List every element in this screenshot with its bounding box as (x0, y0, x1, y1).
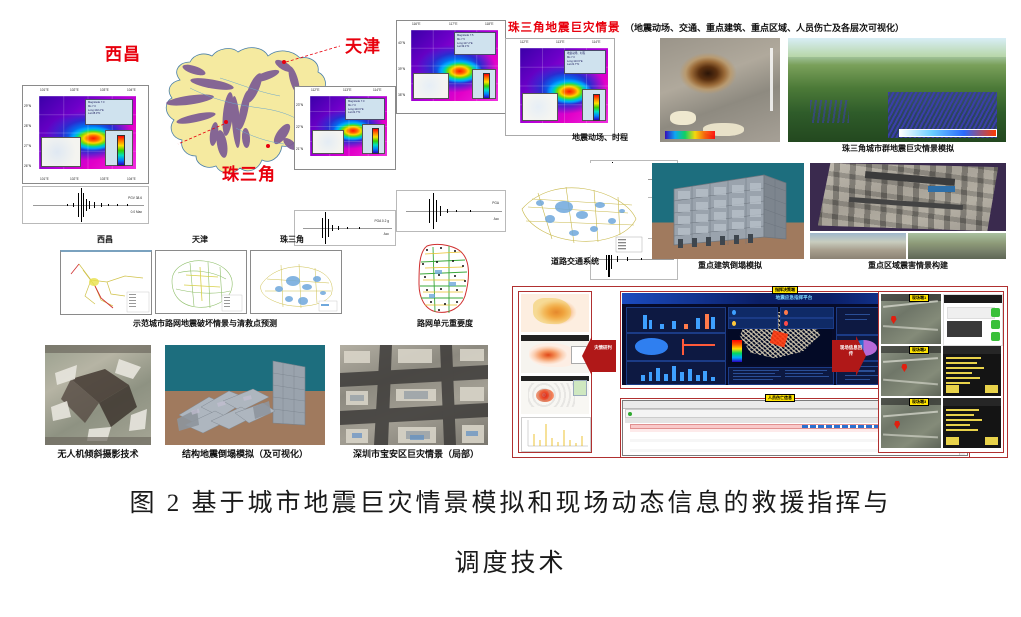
tianjin-x-tick-3: 118°E (485, 22, 493, 26)
xichang-x-tick-b1: 101°E (40, 177, 49, 181)
road-thumb-label-xichang: 西昌 (75, 236, 135, 245)
gm-x-tick-3: 114°E (592, 40, 600, 44)
city-label-prd: 珠三角 (222, 160, 282, 182)
xichang-y-tick-1: 29°N (24, 104, 31, 108)
arrow-field-info-return (830, 336, 866, 376)
gm-x-tick-1: 112°E (520, 40, 528, 44)
right-block-title-sub: （地震动场、交通、重点建筑、重点区域、人员伤亡及各层次可视化） (625, 23, 904, 33)
road-network-thumb-prd (250, 250, 342, 314)
population-density-thumb (521, 335, 589, 373)
road-network-thumb-tianjin (155, 250, 247, 314)
ground-motion-legend: 地震动场、时程 Ms 7.0 Long:113.6°E Lat:22.7°N (564, 50, 606, 74)
prd-y-tick-2: 22°N (296, 125, 303, 129)
ground-motion-map: 地震动场、时程 Ms 7.0 Long:113.6°E Lat:22.7°N 1… (505, 38, 615, 136)
label-uav-oblique-photo: 无人机倾斜摄影技术 (38, 450, 158, 460)
label-road-traffic-system: 道路交通系统 (520, 258, 630, 267)
shenzhen-baoan-scenario (340, 345, 488, 445)
xichang-x-tick-3: 103°E (100, 88, 109, 92)
tianjin-inset-map (413, 73, 449, 99)
dashboard-stat-chip-1[interactable] (728, 307, 778, 318)
road-thumb-label-tianjin: 天津 (170, 236, 230, 245)
dashboard-stat-chip-3[interactable] (728, 318, 778, 329)
tianjin-waveform-plot: PGA Acc (396, 190, 506, 232)
region-intensity-thumb (521, 294, 589, 332)
tianjin-x-tick-1: 116°E (412, 22, 420, 26)
road-network-thumb-xichang (60, 250, 152, 315)
dashboard-chart-card-2[interactable] (626, 333, 726, 361)
badge-command-center: 指挥决策端 (772, 286, 798, 294)
command-left-column (518, 291, 592, 453)
xichang-x-tick-2: 102°E (70, 88, 79, 92)
prd-wave-label-2: Acc (384, 232, 389, 236)
dashboard-chart-card-3[interactable] (626, 361, 726, 385)
xichang-x-tick-1: 101°E (40, 88, 49, 92)
label-key-area-damage-scenario: 重点区域震害情景构建 (840, 262, 976, 271)
structure-collapse-sim (165, 345, 325, 445)
tianjin-x-tick-2: 117°E (449, 22, 457, 26)
xichang-wave-label-1: PGV 38.6 (128, 196, 142, 200)
field-app-1[interactable] (943, 294, 1003, 346)
badge-field-terminal-2: 现场端2 (909, 346, 929, 354)
xichang-intensity-map: Magnitude 7.0 Ms 7.0 Long:102.2°E Lat:28… (22, 85, 149, 184)
prd-x-tick-1: 112°E (311, 88, 319, 92)
xichang-colorbar (105, 130, 133, 166)
ground-motion-colorbar (582, 89, 606, 121)
prd-y-tick-1: 23°N (296, 103, 303, 107)
badge-casualty-info: 人员伤亡信息 (765, 394, 795, 402)
prd-wave-label-1: PGA 0.2 g (374, 219, 389, 223)
prd-y-tick-3: 21°N (296, 147, 303, 151)
tianjin-intensity-map: Magnitude 7.5 Ms 7.5 Long:117.2°E Lat:39… (396, 20, 506, 114)
road-traffic-map (508, 163, 648, 255)
arrow-right-label: 现场信息回传 (838, 345, 864, 356)
prd-terrain-visualization (788, 38, 1006, 142)
label-prd-urban-cluster: 珠三角城市群地震巨灾情景模拟 (790, 145, 1006, 154)
xichang-map-legend: Magnitude 7.0 Ms 7.0 Long:102.2°E Lat:28… (85, 99, 133, 125)
arrow-disaster-assessment: 灾情研判 (582, 336, 618, 376)
dashboard-title: 地震应急指挥平台 (760, 295, 829, 301)
xichang-x-tick-b4: 104°E (127, 177, 136, 181)
key-area-photo-strip-left (810, 233, 906, 259)
dashboard-chart-card-1[interactable] (626, 307, 726, 333)
tianjin-wave-label-1: PGA (492, 201, 499, 205)
right-block-title-main: 珠三角地震巨灾情景 (508, 22, 621, 34)
damage-hotspot-thumb (521, 376, 589, 414)
xichang-x-tick-b3: 103°E (100, 177, 109, 181)
label-shenzhen-baoan-scenario: 深圳市宝安区巨灾情景（局部） (336, 450, 496, 460)
road-thumb-label-prd: 珠三角 (262, 236, 322, 245)
uav-oblique-photo (45, 345, 151, 445)
prd-inset-map (312, 130, 344, 154)
tianjin-map-legend: Magnitude 7.5 Ms 7.5 Long:117.2°E Lat:39… (454, 32, 496, 55)
key-area-photo-strip-right (908, 233, 1006, 259)
field-form-2[interactable] (943, 346, 1001, 396)
badge-field-terminal-3: 现场端3 (909, 398, 929, 406)
road-unit-importance-caption: 路网单元重要度 (395, 320, 495, 329)
prd-intensity-map: Magnitude 7.0 Ms 7.0 Long:113.6°E Lat:22… (294, 86, 396, 170)
xichang-y-tick-3: 27°N (24, 144, 31, 148)
right-block-title: 珠三角地震巨灾情景 （地震动场、交通、重点建筑、重点区域、人员伤亡及各层次可视化… (508, 18, 1008, 36)
xichang-inset-map (41, 137, 81, 167)
xichang-y-tick-2: 28°N (24, 124, 31, 128)
field-terminal-column: 现场端1 现场端2 (878, 291, 1004, 453)
tianjin-colorbar (472, 69, 496, 99)
label-key-building-collapse: 重点建筑倒塌模拟 (665, 262, 795, 271)
figure-caption-line-2: 调度技术 (0, 547, 1021, 581)
badge-field-terminal-1: 现场端1 (909, 294, 929, 302)
prd-colorbar (362, 124, 385, 154)
dashboard-info-card[interactable] (728, 367, 834, 385)
xichang-x-tick-4: 104°E (127, 88, 136, 92)
gm-x-tick-2: 113°E (556, 40, 564, 44)
city-label-tianjin: 天津 (345, 32, 397, 54)
figure-caption-line-1: 图 2 基于城市地震巨灾情景模拟和现场动态信息的救援指挥与 (0, 487, 1021, 521)
road-unit-importance-map (405, 240, 485, 318)
tianjin-y-tick-1: 40°N (398, 41, 405, 45)
response-spectrum-thumb (521, 417, 591, 452)
dashboard-stat-chip-4[interactable] (780, 318, 834, 329)
xichang-y-tick-4: 26°N (24, 164, 31, 168)
xichang-waveform-plot: PGV 38.6 0.0 Max (22, 186, 149, 224)
field-form-3[interactable] (943, 398, 1001, 448)
prd-map-legend: Magnitude 7.0 Ms 7.0 Long:113.6°E Lat:22… (345, 98, 385, 120)
label-structure-collapse-sim: 结构地震倒塌模拟（及可视化） (160, 450, 330, 460)
arrow-left-label: 灾情研判 (590, 345, 616, 351)
xichang-wave-label-2: 0.0 Max (131, 210, 142, 214)
tianjin-wave-label-2: Acc (494, 217, 499, 221)
tianjin-y-tick-3: 38°N (398, 93, 405, 97)
xichang-x-tick-b2: 102°E (70, 177, 79, 181)
road-row-caption: 示范城市路网地震破坏情景与清救点预测 (105, 320, 305, 329)
figure-caption: 图 2 基于城市地震巨灾情景模拟和现场动态信息的救援指挥与 调度技术 (0, 487, 1021, 581)
prd-3d-scenario-thumb (660, 38, 780, 142)
dashboard-stat-chip-2[interactable] (780, 307, 834, 318)
ground-motion-inset (522, 93, 558, 121)
prd-x-tick-2: 113°E (343, 88, 351, 92)
key-building-model (652, 163, 804, 259)
key-area-oblique-photo (810, 163, 1006, 231)
prd-x-tick-3: 114°E (373, 88, 381, 92)
figure-image: 西昌 Magnitude 7.0 Ms 7.0 Long:102.2°E Lat… (0, 0, 1021, 480)
tianjin-y-tick-2: 39°N (398, 67, 405, 71)
label-ground-motion-timehistory: 地震动场、时程 (540, 134, 660, 143)
